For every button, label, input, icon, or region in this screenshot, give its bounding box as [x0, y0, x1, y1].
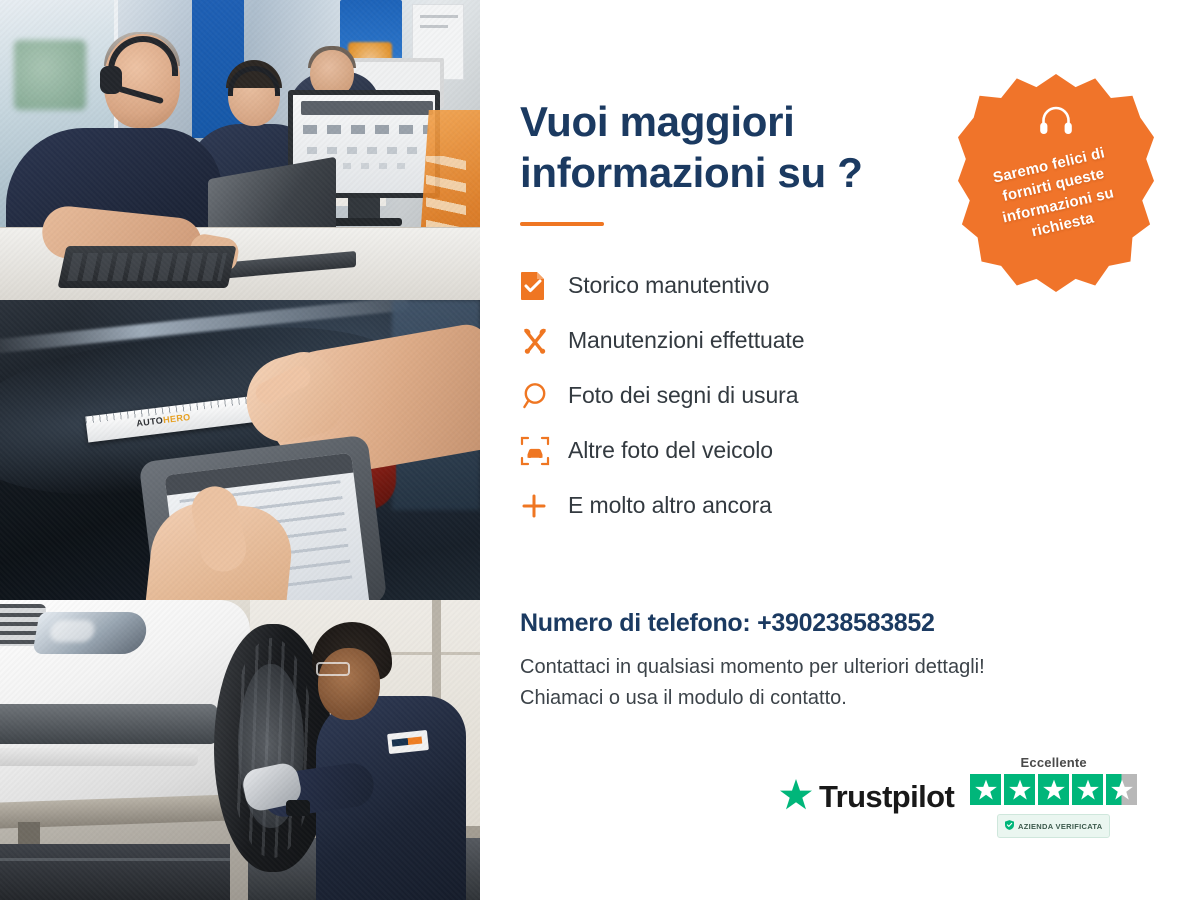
magnifier-icon: [520, 381, 568, 411]
monitor-screen-row-1: [303, 125, 429, 134]
shield-check-icon: [1005, 817, 1014, 835]
contact-block: Numero di telefono: +390238583852 Contat…: [520, 609, 1200, 714]
car-scan-icon: [520, 436, 568, 466]
contact-line-2: Chiamaci o usa il modulo di contatto.: [520, 687, 847, 709]
trustpilot-rating: Eccellente: [970, 755, 1137, 838]
phone-label: Numero di telefono:: [520, 609, 750, 637]
verified-business-label: AZIENDA VERIFICATA: [1018, 822, 1102, 831]
feature-item-foto-segni-usura: Foto dei segni di usura: [520, 368, 1200, 423]
car-headlight: [32, 612, 149, 654]
feature-label: Storico manutentivo: [568, 272, 769, 299]
trustpilot-star-half: [1106, 774, 1137, 805]
contact-description: Contattaci in qualsiasi momento per ulte…: [520, 652, 1200, 714]
trustpilot-star-filled: [1072, 774, 1103, 805]
car-lower-grille: [0, 704, 218, 744]
contact-line-1: Contattaci in qualsiasi momento per ulte…: [520, 656, 985, 678]
monitor-screen-row-2: [307, 147, 425, 154]
promo-banner: AUTOHERO: [0, 0, 1200, 900]
phone-line: Numero di telefono: +390238583852: [520, 609, 1200, 638]
monitor-base: [326, 218, 402, 226]
ruler-brand-hero: HERO: [163, 412, 192, 425]
headline-line-2: informazioni su ?: [520, 149, 863, 196]
feature-item-molto-altro: E molto altro ancora: [520, 478, 1200, 533]
trustpilot-star-filled: [1038, 774, 1069, 805]
mechanic-head: [318, 648, 380, 720]
monitor-stand: [348, 198, 380, 220]
feature-label: Manutenzioni effettuate: [568, 327, 804, 354]
title-divider: [520, 222, 604, 226]
trustpilot-logo: Trustpilot: [780, 779, 954, 815]
trustpilot-widget[interactable]: Trustpilot Eccellente: [780, 755, 1137, 838]
photo-column: AUTOHERO: [0, 0, 480, 900]
photo-call-center: [0, 0, 480, 300]
plus-icon: [520, 492, 568, 520]
availability-badge: Saremo felici di fornirti queste informa…: [958, 74, 1154, 292]
feature-item-altre-foto-veicolo: Altre foto del veicolo: [520, 423, 1200, 478]
feature-label: Altre foto del veicolo: [568, 437, 773, 464]
trustpilot-star-icon: [780, 779, 812, 815]
trustpilot-rating-label: Eccellente: [1021, 755, 1087, 770]
feature-item-manutenzioni-effettuate: Manutenzioni effettuate: [520, 313, 1200, 368]
photo-inspection-ruler: AUTOHERO: [0, 300, 480, 600]
feature-label: Foto dei segni di usura: [568, 382, 798, 409]
mechanic-uniform-logo: [387, 730, 429, 754]
verified-business-badge: AZIENDA VERIFICATA: [997, 814, 1110, 838]
ruler-brand-auto: AUTO: [136, 415, 164, 428]
monitor-screen-bar: [301, 101, 433, 115]
headset-icon: [1038, 104, 1074, 143]
trustpilot-brand-text: Trustpilot: [819, 779, 954, 815]
feature-list: Storico manutentivo Manutenzi: [520, 258, 1200, 533]
trustpilot-stars: [970, 774, 1137, 805]
phone-number[interactable]: +390238583852: [757, 609, 935, 637]
trustpilot-star-filled: [1004, 774, 1035, 805]
car-bumper: [0, 748, 198, 766]
content-column: Vuoi maggiori informazioni su ? Storico …: [480, 0, 1200, 900]
trustpilot-star-filled: [970, 774, 1001, 805]
mechanic-watch: [286, 800, 310, 816]
headline-line-1: Vuoi maggiori: [520, 98, 795, 145]
mechanic-glasses: [316, 662, 350, 676]
tool-cabinet: [0, 844, 230, 900]
photo-wheel-service: [0, 600, 480, 900]
keyboard: [58, 246, 237, 288]
crossed-tools-icon: [520, 326, 568, 356]
document-check-icon: [520, 271, 568, 301]
ruler-brand-label: AUTOHERO: [136, 412, 191, 429]
page-title: Vuoi maggiori informazioni su ?: [520, 96, 940, 198]
feature-label: E molto altro ancora: [568, 492, 772, 519]
